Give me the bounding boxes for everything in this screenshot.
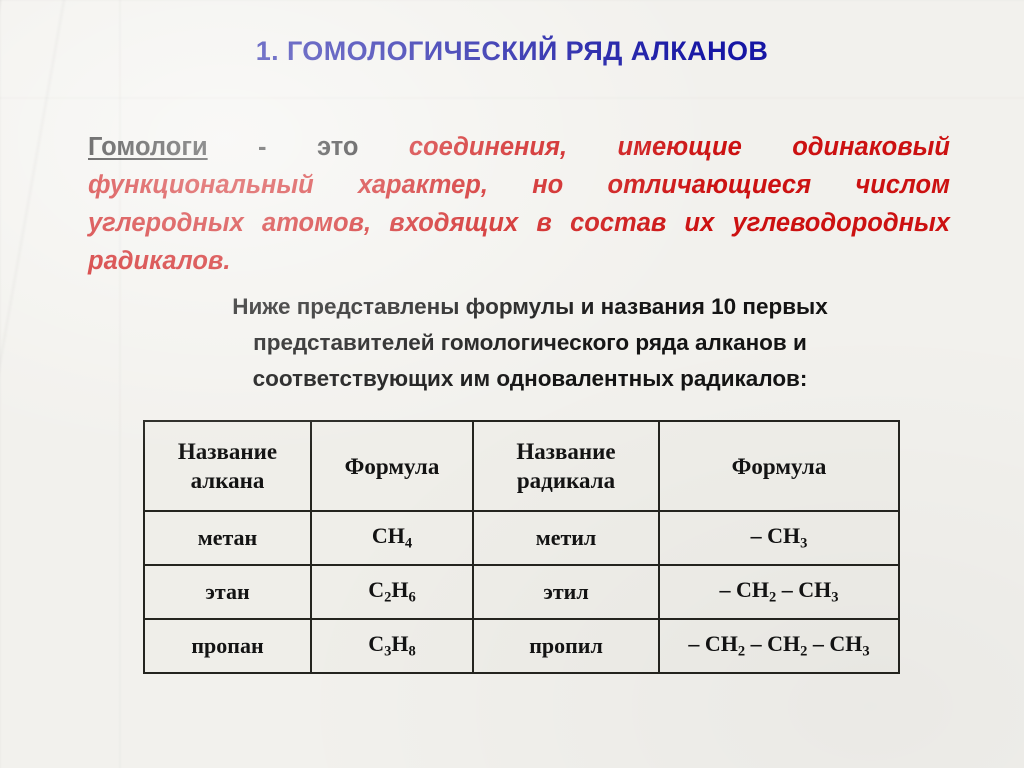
homologous-series-table: Название алкана Формула Название радикал…: [143, 420, 900, 674]
cell-radical-formula: – CH2 – CH3: [659, 565, 899, 619]
definition-connector: - это: [208, 133, 409, 161]
page-title: 1. ГОМОЛОГИЧЕСКИЙ РЯД АЛКАНОВ: [0, 36, 1024, 67]
cell-alkane-name: этан: [144, 565, 311, 619]
cell-alkane-formula: C2H6: [311, 565, 473, 619]
cell-alkane-name: метан: [144, 511, 311, 565]
slide-canvas: 1. ГОМОЛОГИЧЕСКИЙ РЯД АЛКАНОВ Гомологи -…: [0, 0, 1024, 768]
column-header-radical-formula: Формула: [659, 421, 899, 511]
table-body: метанCH4метил– CH3этанC2H6этил– CH2 – CH…: [144, 511, 899, 673]
cell-radical-name: пропил: [473, 619, 659, 673]
alkane-formula-text: C2H6: [368, 577, 416, 602]
table-header-row: Название алкана Формула Название радикал…: [144, 421, 899, 511]
header-line-2: алкана: [145, 466, 310, 495]
column-header-alkane-formula: Формула: [311, 421, 473, 511]
intro-line-1: Ниже представлены формулы и названия 10 …: [150, 289, 910, 325]
radical-formula-text: – CH2 – CH2 – CH3: [688, 631, 869, 656]
cell-radical-name: этил: [473, 565, 659, 619]
definition-term: Гомологи: [88, 133, 208, 161]
header-line-1: Название: [474, 437, 658, 466]
cell-radical-formula: – CH3: [659, 511, 899, 565]
header-line-1: Формула: [312, 452, 472, 481]
cell-radical-formula: – CH2 – CH2 – CH3: [659, 619, 899, 673]
intro-line-2: представителей гомологического ряда алка…: [150, 325, 910, 361]
cell-radical-name: метил: [473, 511, 659, 565]
column-header-radical-name: Название радикала: [473, 421, 659, 511]
cell-alkane-formula: CH4: [311, 511, 473, 565]
radical-formula-text: – CH2 – CH3: [719, 577, 838, 602]
intro-paragraph: Ниже представлены формулы и названия 10 …: [150, 289, 910, 397]
table-row: пропанC3H8пропил– CH2 – CH2 – CH3: [144, 619, 899, 673]
cell-alkane-name: пропан: [144, 619, 311, 673]
alkane-formula-text: CH4: [372, 523, 412, 548]
header-line-2: радикала: [474, 466, 658, 495]
column-header-alkane-name: Название алкана: [144, 421, 311, 511]
header-line-1: Название: [145, 437, 310, 466]
table-row: этанC2H6этил– CH2 – CH3: [144, 565, 899, 619]
intro-line-3: соответствующих им одновалентных радикал…: [150, 361, 910, 397]
header-line-1: Формула: [660, 452, 898, 481]
radical-formula-text: – CH3: [751, 523, 808, 548]
cell-alkane-formula: C3H8: [311, 619, 473, 673]
table-row: метанCH4метил– CH3: [144, 511, 899, 565]
alkane-formula-text: C3H8: [368, 631, 416, 656]
